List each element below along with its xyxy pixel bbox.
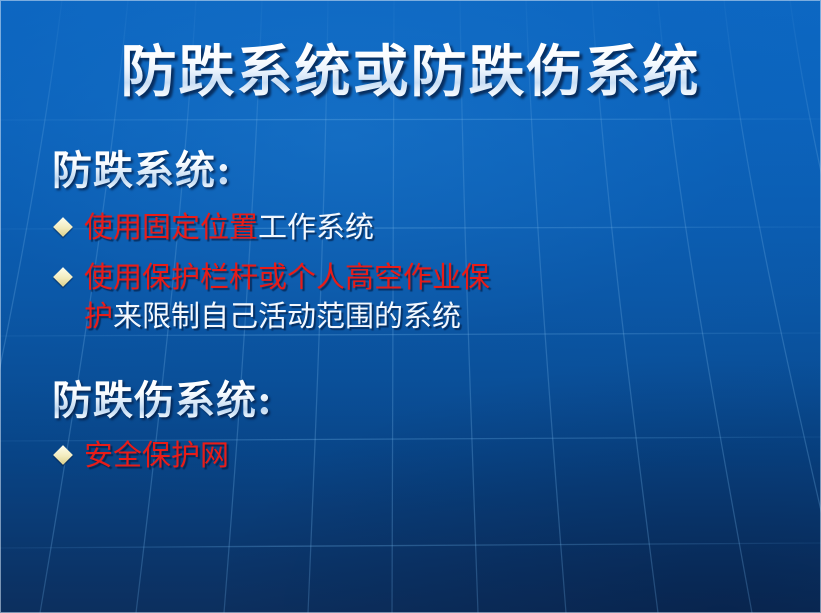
bullet-text: 使用固定位置工作系统: [84, 208, 506, 247]
bullet-text: 安全保护网: [84, 436, 506, 475]
bullet-segment-normal: 来限制自己活动范围的系统: [113, 299, 461, 333]
section-heading-1: 防跌系统:: [52, 148, 232, 194]
bullet-segment-emphasis: 使用固定位置: [84, 210, 258, 244]
diamond-bullet-icon: [53, 267, 73, 287]
presentation-slide: 防跌系统或防跌伤系统 防跌系统: 使用固定位置工作系统 使用保护栏杆或个人高空作…: [0, 0, 821, 613]
bullet-item: 使用保护栏杆或个人高空作业保护来限制自己活动范围的系统: [56, 258, 506, 336]
bullet-item: 使用固定位置工作系统: [56, 208, 506, 247]
bullet-text: 使用保护栏杆或个人高空作业保护来限制自己活动范围的系统: [84, 258, 506, 336]
bullet-segment-emphasis: 安全保护网: [84, 438, 229, 472]
bullet-item: 安全保护网: [56, 436, 506, 475]
slide-title: 防跌系统或防跌伤系统: [0, 38, 821, 106]
bullet-segment-normal: 工作系统: [258, 210, 374, 244]
diamond-bullet-icon: [53, 217, 73, 237]
section-heading-2: 防跌伤系统:: [52, 378, 273, 424]
diamond-bullet-icon: [53, 445, 73, 465]
slide-content: 防跌系统或防跌伤系统 防跌系统: 使用固定位置工作系统 使用保护栏杆或个人高空作…: [0, 0, 821, 613]
